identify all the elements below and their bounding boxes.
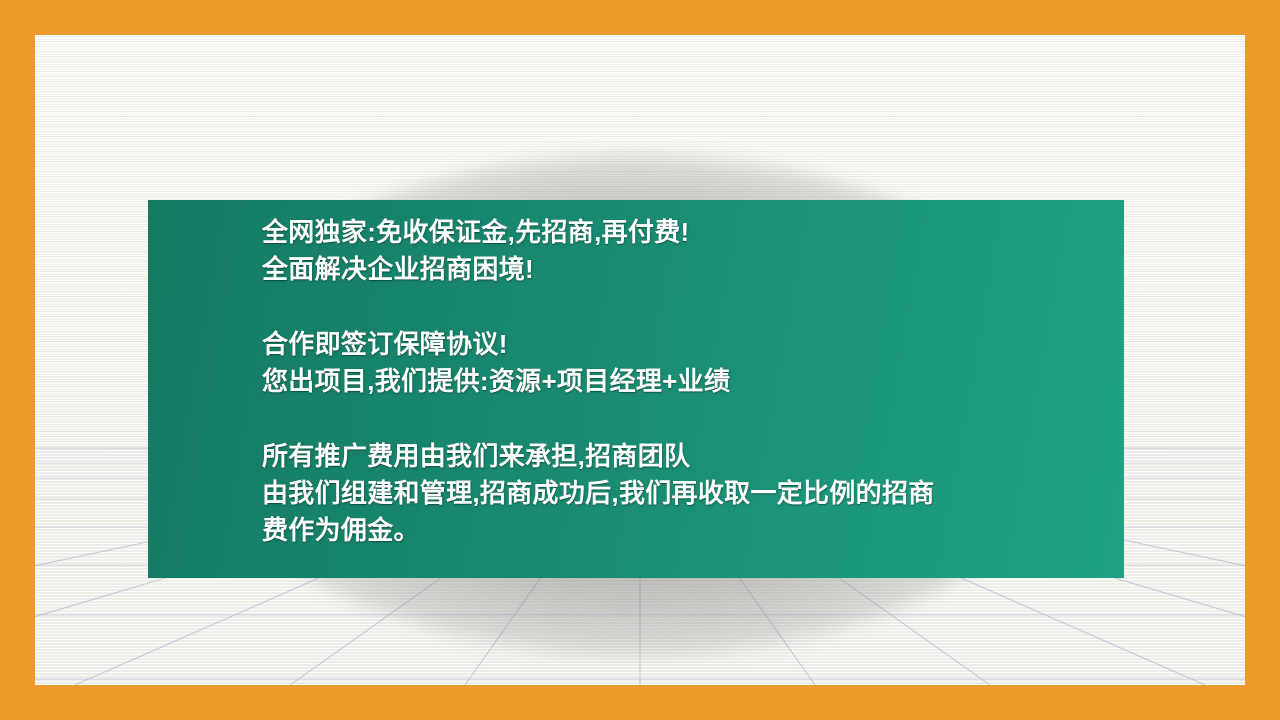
panel-line: 全网独家:免收保证金,先招商,再付费! xyxy=(262,214,1124,251)
panel-line: 费作为佣金。 xyxy=(262,512,1124,549)
paragraph-1: 全网独家:免收保证金,先招商,再付费! 全面解决企业招商困境! xyxy=(262,214,1124,288)
paragraph-2: 合作即签订保障协议! 您出项目,我们提供:资源+项目经理+业绩 xyxy=(262,326,1124,400)
room-scene: 全网独家:免收保证金,先招商,再付费! 全面解决企业招商困境! 合作即签订保障协… xyxy=(35,35,1245,685)
panel-line: 所有推广费用由我们来承担,招商团队 xyxy=(262,438,1124,475)
panel-line: 您出项目,我们提供:资源+项目经理+业绩 xyxy=(262,363,1124,400)
green-message-panel: 全网独家:免收保证金,先招商,再付费! 全面解决企业招商困境! 合作即签订保障协… xyxy=(148,200,1124,578)
panel-line: 全面解决企业招商困境! xyxy=(262,251,1124,288)
panel-line: 合作即签订保障协议! xyxy=(262,326,1124,363)
paragraph-3: 所有推广费用由我们来承担,招商团队 由我们组建和管理,招商成功后,我们再收取一定… xyxy=(262,438,1124,549)
panel-line: 由我们组建和管理,招商成功后,我们再收取一定比例的招商 xyxy=(262,475,1124,512)
promo-slide: 全网独家:免收保证金,先招商,再付费! 全面解决企业招商困境! 合作即签订保障协… xyxy=(0,0,1280,720)
